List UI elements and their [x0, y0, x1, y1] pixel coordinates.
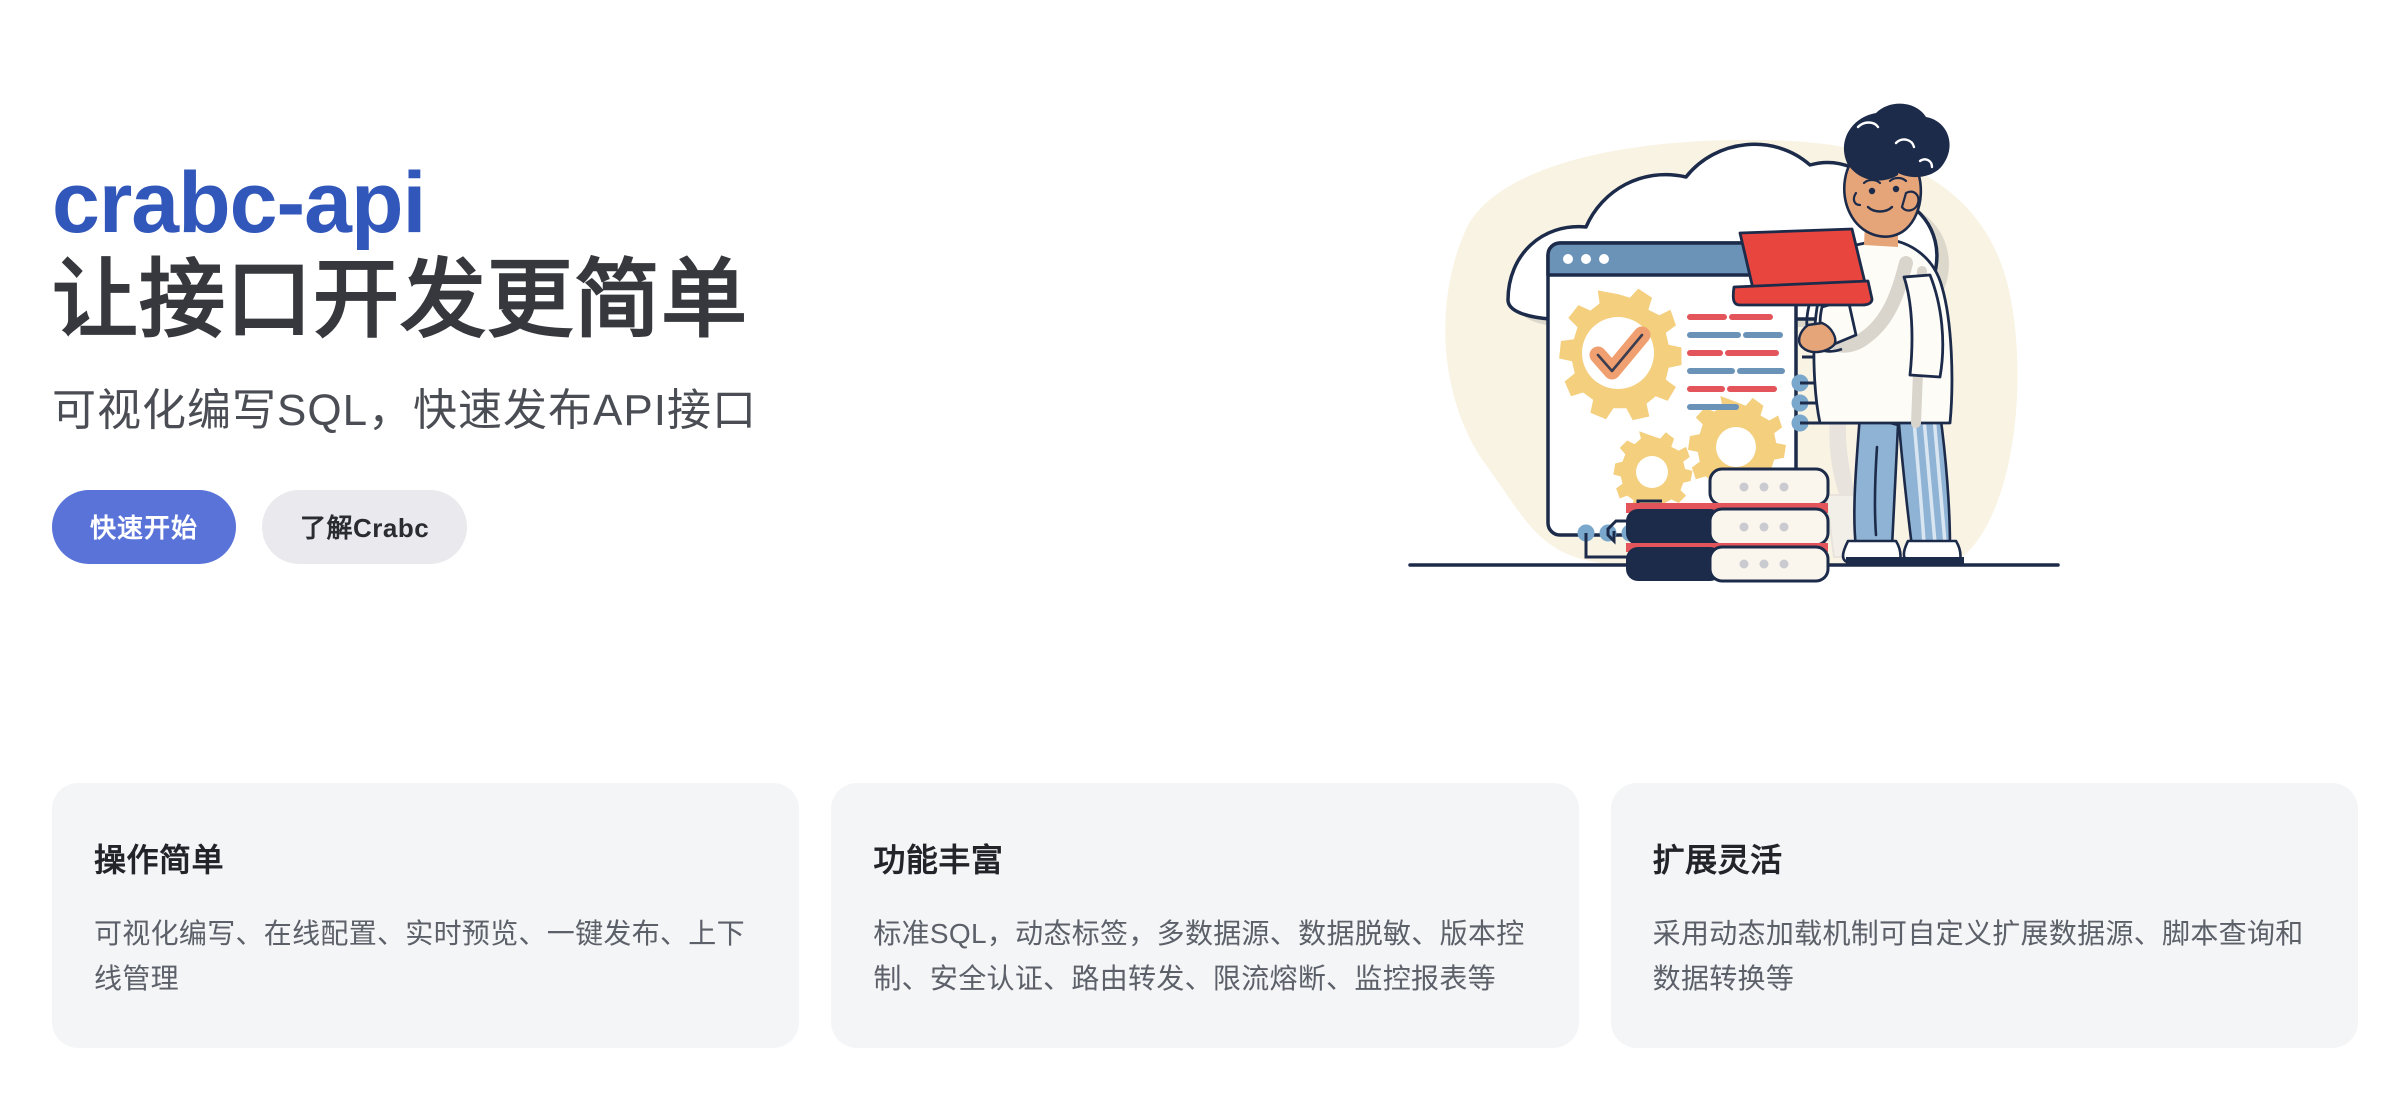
feature-card-rich-features: 功能丰富 标准SQL，动态标签，多数据源、数据脱敏、版本控制、安全认证、路由转发…	[831, 783, 1578, 1048]
feature-card-description: 标准SQL，动态标签，多数据源、数据脱敏、版本控制、安全认证、路由转发、限流熔断…	[873, 911, 1536, 1002]
hero-section: crabc-api 让接口开发更简单 可视化编写SQL，快速发布API接口 快速…	[0, 0, 2390, 760]
features-section: 操作简单 可视化编写、在线配置、实时预览、一键发布、上下线管理 功能丰富 标准S…	[52, 783, 2358, 1048]
landing-page: crabc-api 让接口开发更简单 可视化编写SQL，快速发布API接口 快速…	[0, 0, 2390, 1102]
hero-action-buttons: 快速开始 了解Crabc	[52, 490, 1302, 564]
page-title-brand: crabc-api	[52, 160, 1302, 246]
quick-start-button[interactable]: 快速开始	[52, 490, 236, 564]
feature-card-description: 采用动态加载机制可自定义扩展数据源、脚本查询和数据转换等	[1653, 911, 2316, 1002]
feature-card-title: 功能丰富	[873, 835, 1536, 881]
hero-text-block: crabc-api 让接口开发更简单 可视化编写SQL，快速发布API接口 快速…	[52, 160, 1302, 564]
feature-card-title: 扩展灵活	[1653, 835, 2316, 881]
feature-card-flexible-extension: 扩展灵活 采用动态加载机制可自定义扩展数据源、脚本查询和数据转换等	[1611, 783, 2358, 1048]
learn-crabc-button[interactable]: 了解Crabc	[262, 490, 467, 564]
hero-illustration	[1390, 95, 2070, 605]
hero-tagline: 可视化编写SQL，快速发布API接口	[52, 382, 1302, 439]
feature-card-description: 可视化编写、在线配置、实时预览、一键发布、上下线管理	[94, 911, 757, 1002]
cloud-api-developer-icon	[1390, 95, 2070, 605]
feature-card-operation-simple: 操作简单 可视化编写、在线配置、实时预览、一键发布、上下线管理	[52, 783, 799, 1048]
feature-card-title: 操作简单	[94, 835, 757, 881]
page-title-headline: 让接口开发更简单	[52, 252, 1302, 348]
